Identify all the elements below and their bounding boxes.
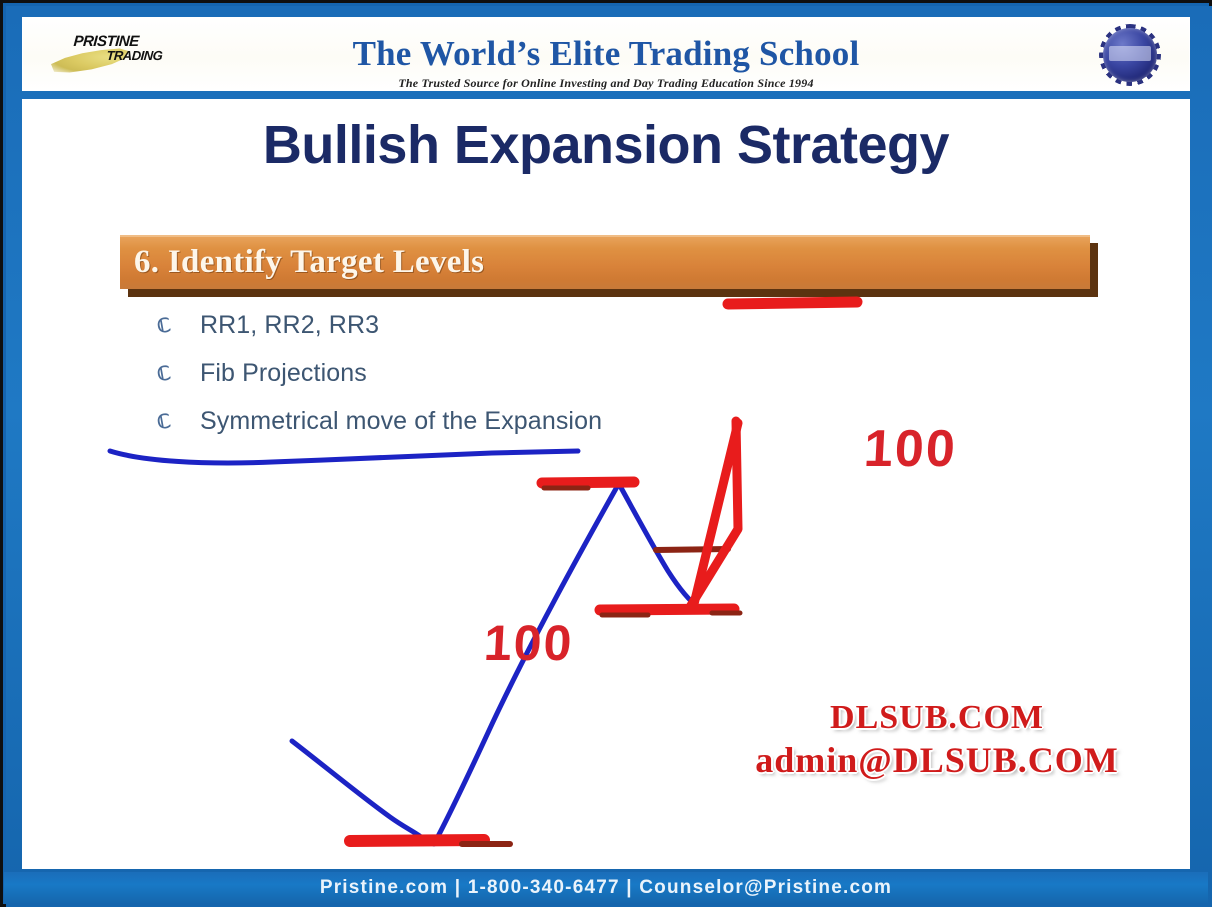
watermark: DLSUB.COM admin@DLSUB.COM xyxy=(702,699,1172,781)
bullet-list: ℂ RR1, RR2, RR3 ℂ Fib Projections ℂ Symm… xyxy=(154,311,794,455)
footer-bar: Pristine.com | 1-800-340-6477 | Counselo… xyxy=(4,872,1208,903)
list-item: ℂ Symmetrical move of the Expansion xyxy=(154,407,794,455)
bullet-label: Fib Projections xyxy=(200,359,367,388)
bullet-label: RR1, RR2, RR3 xyxy=(200,311,379,340)
watermark-line-2: admin@DLSUB.COM xyxy=(702,739,1172,781)
header-title: The World’s Elite Trading School xyxy=(23,34,1189,74)
swirl-bullet-icon: ℂ xyxy=(152,315,175,338)
seal-band xyxy=(1109,46,1151,61)
target-level-line-ink xyxy=(728,302,857,304)
bullet-label: Symmetrical move of the Expansion xyxy=(200,407,602,436)
section-banner-bar: 6. Identify Target Levels xyxy=(120,235,1090,289)
header-panel: PRISTINE TRADING The World’s Elite Tradi… xyxy=(22,17,1190,91)
pullback-low-level-line-ink xyxy=(600,609,734,610)
pristine-seal-icon xyxy=(1099,24,1161,86)
header-tagline: The Trusted Source for Online Investing … xyxy=(23,76,1189,91)
section-banner-label: 6. Identify Target Levels xyxy=(134,244,484,281)
midpoint-tick-ink xyxy=(656,549,728,550)
list-item: ℂ Fib Projections xyxy=(154,359,794,407)
price-path-left-ink xyxy=(292,741,426,842)
annotation-label-upper-100: 100 xyxy=(862,419,958,479)
slide-root: PRISTINE TRADING The World’s Elite Tradi… xyxy=(0,0,1212,907)
footer-contact-text: Pristine.com | 1-800-340-6477 | Counselo… xyxy=(320,877,892,899)
watermark-line-1: DLSUB.COM xyxy=(702,699,1172,737)
slide-body-panel: Bullish Expansion Strategy 6. Identify T… xyxy=(22,99,1190,869)
swirl-bullet-icon: ℂ xyxy=(152,363,175,386)
price-pullback-leg-ink xyxy=(619,484,700,609)
swing-high-level-line-ink xyxy=(542,482,634,483)
annotation-label-lower-100: 100 xyxy=(482,614,574,672)
list-item: ℂ RR1, RR2, RR3 xyxy=(154,311,794,359)
base-level-line-ink xyxy=(350,840,484,841)
page-title: Bullish Expansion Strategy xyxy=(22,114,1190,176)
section-banner: 6. Identify Target Levels xyxy=(120,235,1098,297)
swirl-bullet-icon: ℂ xyxy=(152,411,175,434)
